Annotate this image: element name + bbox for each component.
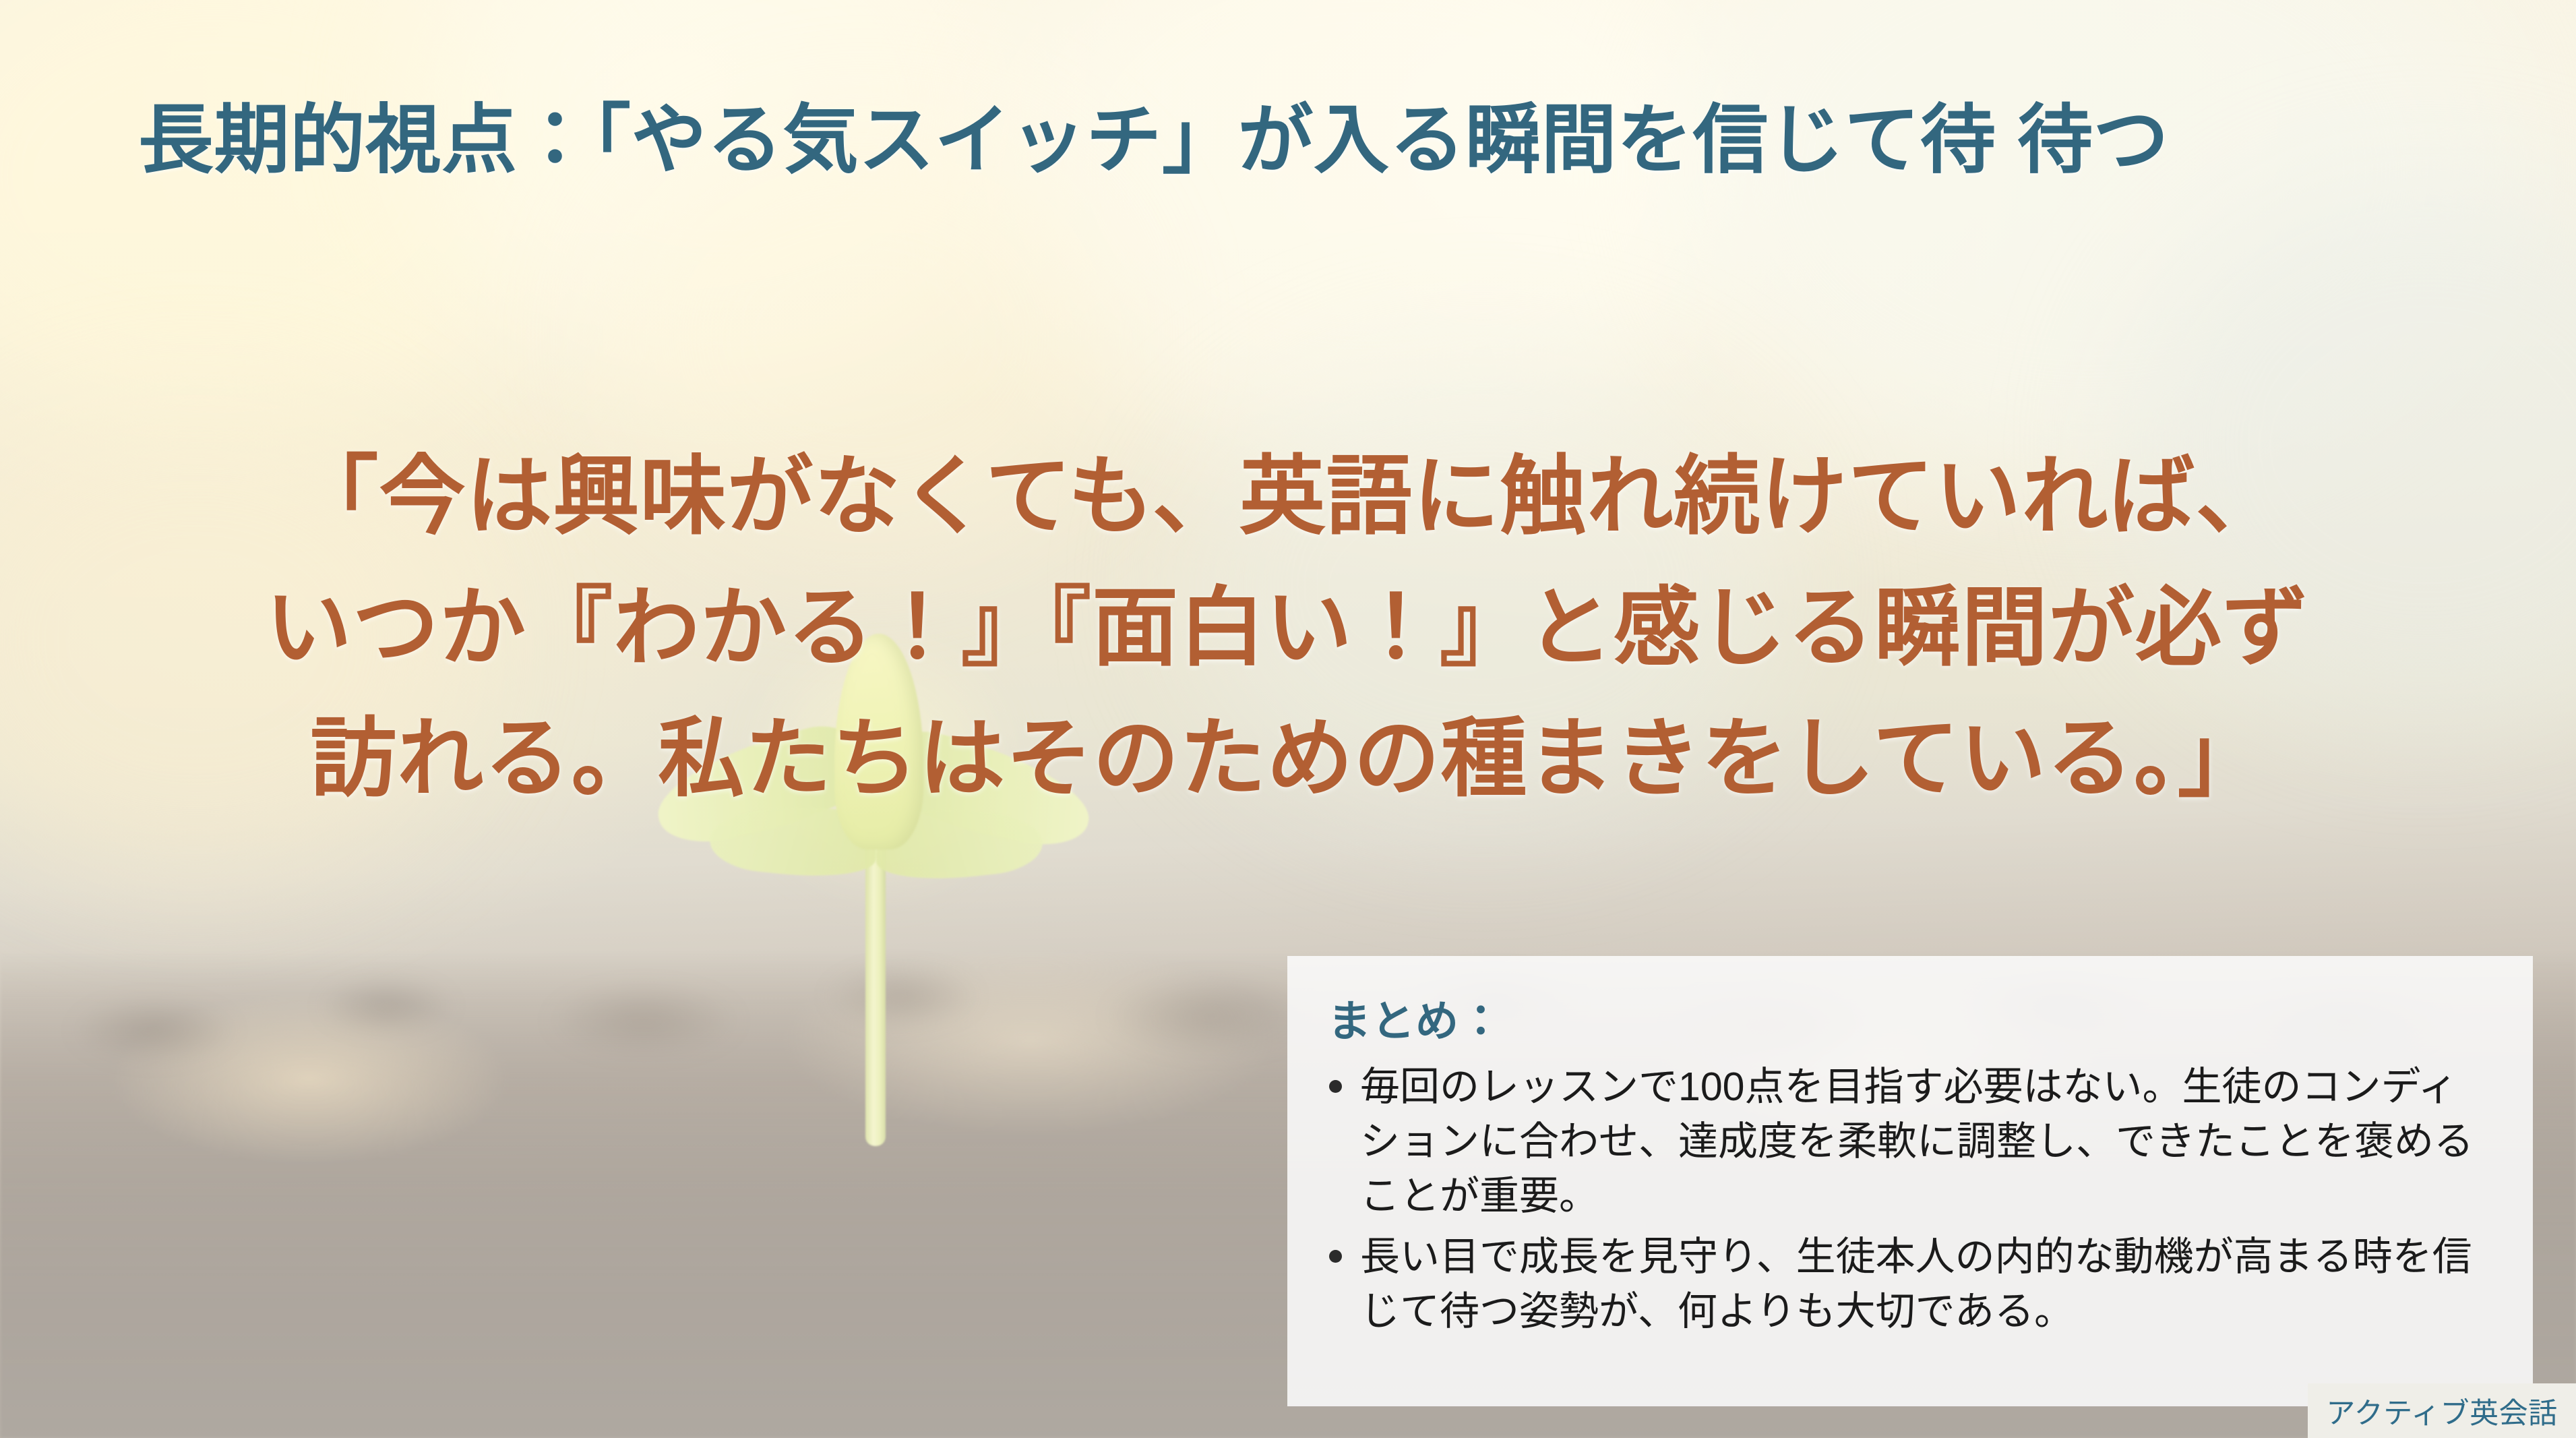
quote-line-1: 「今は興味がなくても、英語に触れ続けていれば、	[108, 431, 2467, 563]
quote-line-3: 訪れる。私たちはそのための種まきをしている。」	[108, 694, 2467, 825]
summary-panel: まとめ： 毎回のレッスンで100点を目指す必要はない。生徒のコンディションに合わ…	[1287, 956, 2533, 1406]
list-item-text: 毎回のレッスンで100点を目指す必要はない。生徒のコンディションに合わせ、達成度…	[1360, 1065, 2474, 1218]
list-item-text: 長い目で成長を見守り、生徒本人の内的な動機が高まる時を信じて待つ姿勢が、何よりも…	[1360, 1234, 2472, 1334]
title-line-1: 長期的視点：「やる気スイッチ」が入る瞬間を信じて待	[138, 98, 1996, 182]
slide-content: 長期的視点：「やる気スイッチ」が入る瞬間を信じて待 待つ 「今は興味がなくても、…	[0, 0, 2576, 1438]
list-item: 毎回のレッスンで100点を目指す必要はない。生徒のコンディションに合わせ、達成度…	[1317, 1060, 2494, 1223]
slide-canvas: 長期的視点：「やる気スイッチ」が入る瞬間を信じて待 待つ 「今は興味がなくても、…	[0, 0, 2576, 1438]
brand-name: アクティブ英会話	[2326, 1390, 2557, 1432]
list-item: 長い目で成長を見守り、生徒本人の内的な動機が高まる時を信じて待つ姿勢が、何よりも…	[1317, 1230, 2494, 1339]
title-line-2: 待つ	[2017, 98, 2169, 182]
pull-quote: 「今は興味がなくても、英語に触れ続けていれば、 いつか『わかる！』『面白い！』と…	[108, 431, 2467, 825]
bullet-dot-icon	[1329, 1080, 1342, 1093]
page-title: 長期的視点：「やる気スイッチ」が入る瞬間を信じて待 待つ	[138, 86, 2356, 193]
quote-line-2: いつか『わかる！』『面白い！』と感じる瞬間が必ず	[108, 563, 2467, 694]
summary-heading: まとめ：	[1328, 987, 2494, 1049]
brand-footer: アクティブ英会話	[2308, 1383, 2576, 1438]
bullet-dot-icon	[1329, 1250, 1342, 1263]
summary-bullet-list: 毎回のレッスンで100点を目指す必要はない。生徒のコンディションに合わせ、達成度…	[1317, 1060, 2494, 1339]
